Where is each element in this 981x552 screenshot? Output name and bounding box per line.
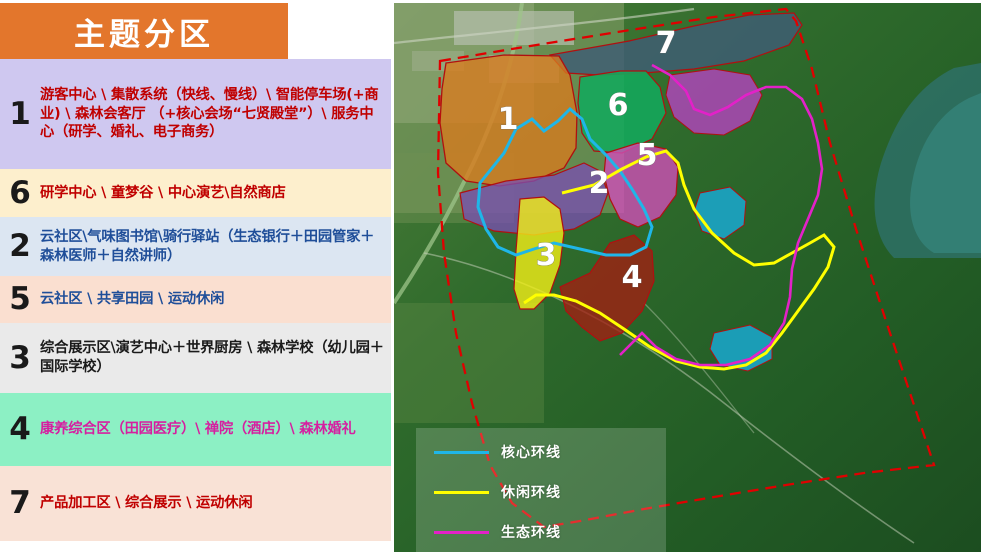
page-title: 主题分区 (0, 3, 288, 59)
slide-root: 主题分区 1游客中心 \ 集散系统（快线、慢线）\ 智能停车场(+商业) \ 森… (0, 0, 981, 552)
zone-row-6[interactable]: 6研学中心 \ 童梦谷 \ 中心演艺\自然商店 (0, 169, 391, 217)
map-zone-label-7: 7 (656, 26, 677, 61)
zone-list: 1游客中心 \ 集散系统（快线、慢线）\ 智能停车场(+商业) \ 森林会客厅 … (0, 59, 391, 541)
legend-item-3: 生态环线 (434, 522, 561, 542)
zone-description-6: 研学中心 \ 童梦谷 \ 中心演艺\自然商店 (40, 184, 391, 203)
zone-description-7: 产品加工区 \ 综合展示 \ 运动休闲 (40, 494, 391, 513)
zone-number-2: 2 (0, 231, 40, 262)
zone-number-7: 7 (0, 488, 40, 519)
legend-label: 核心环线 (501, 442, 561, 462)
zone-number-4: 4 (0, 414, 40, 445)
legend-label: 生态环线 (501, 522, 561, 542)
zone-number-1: 1 (0, 99, 40, 130)
zone-description-4: 康养综合区（田园医疗）\ 禅院（酒店）\ 森林婚礼 (40, 420, 391, 439)
zone-row-3[interactable]: 3综合展示区\演艺中心＋世界厨房 \ 森林学校（幼儿园＋国际学校） (0, 323, 391, 393)
zone-description-5: 云社区 \ 共享田园 \ 运动休闲 (40, 290, 391, 309)
map-zone-label-1: 1 (498, 102, 519, 137)
satellite-zoning-map[interactable]: 1 6 7 5 2 3 4 核心环线休闲环线生态环线 (394, 3, 981, 552)
map-zone-label-5: 5 (637, 138, 658, 173)
zone-row-5[interactable]: 5云社区 \ 共享田园 \ 运动休闲 (0, 276, 391, 323)
legend-line-swatch (434, 531, 489, 534)
theme-zone-panel: 主题分区 1游客中心 \ 集散系统（快线、慢线）\ 智能停车场(+商业) \ 森… (0, 0, 394, 552)
zone-row-1[interactable]: 1游客中心 \ 集散系统（快线、慢线）\ 智能停车场(+商业) \ 森林会客厅 … (0, 59, 391, 169)
zone-description-2: 云社区\气味图书馆\骑行驿站（生态银行＋田园管家＋森林医师＋自然讲师） (40, 228, 391, 266)
zone-description-3: 综合展示区\演艺中心＋世界厨房 \ 森林学校（幼儿园＋国际学校） (40, 339, 391, 377)
zone-row-7[interactable]: 7产品加工区 \ 综合展示 \ 运动休闲 (0, 466, 391, 541)
zone-number-5: 5 (0, 284, 40, 315)
zone-row-4[interactable]: 4康养综合区（田园医疗）\ 禅院（酒店）\ 森林婚礼 (0, 393, 391, 466)
legend-line-swatch (434, 451, 489, 454)
map-zone-label-2: 2 (589, 166, 610, 201)
map-zone-label-6: 6 (608, 88, 629, 123)
panel-header-band: 主题分区 (0, 3, 288, 59)
zone-number-6: 6 (0, 178, 40, 209)
map-legend: 核心环线休闲环线生态环线 (416, 428, 666, 552)
map-zone-label-4: 4 (622, 260, 643, 295)
legend-label: 休闲环线 (501, 482, 561, 502)
legend-line-swatch (434, 491, 489, 494)
zone-row-2[interactable]: 2云社区\气味图书馆\骑行驿站（生态银行＋田园管家＋森林医师＋自然讲师） (0, 217, 391, 276)
zone-number-3: 3 (0, 343, 40, 374)
map-zone-label-3: 3 (536, 238, 557, 273)
legend-item-1: 核心环线 (434, 442, 561, 462)
zone-description-1: 游客中心 \ 集散系统（快线、慢线）\ 智能停车场(+商业) \ 森林会客厅 （… (40, 86, 391, 143)
legend-item-2: 休闲环线 (434, 482, 561, 502)
